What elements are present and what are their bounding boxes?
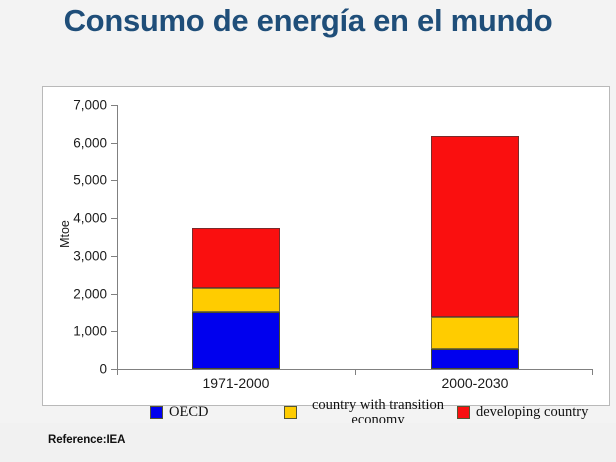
y-axis-tick <box>111 218 118 219</box>
y-tick-label: 2,000 <box>73 286 107 301</box>
bar-segment-oecd[interactable] <box>431 349 519 369</box>
y-axis-labels: 7,000 6,000 5,000 4,000 3,000 2,000 1,00… <box>43 87 109 407</box>
bar-segment-transition-economy[interactable] <box>192 288 280 313</box>
reference-note: Reference:IEA <box>48 434 125 446</box>
legend-item-developing-country[interactable]: developing country <box>457 405 588 419</box>
bar-segment-developing-country[interactable] <box>431 136 519 317</box>
y-tick-label: 6,000 <box>73 135 107 150</box>
legend-swatch-blue-icon <box>150 406 163 419</box>
x-axis-tick <box>592 369 593 375</box>
y-axis-tick <box>111 180 118 181</box>
x-axis-category-label: 2000-2030 <box>405 375 545 391</box>
y-tick-label: 3,000 <box>73 248 107 263</box>
legend-swatch-yellow-icon <box>284 406 297 419</box>
y-tick-label: 7,000 <box>73 98 107 113</box>
y-tick-label: 5,000 <box>73 173 107 188</box>
slide: Consumo de energía en el mundo Mtoe 7,00… <box>0 0 616 462</box>
y-tick-label: 4,000 <box>73 211 107 226</box>
y-axis-tick <box>111 105 118 106</box>
y-tick-label: 1,000 <box>73 324 107 339</box>
plot-area: Mtoe 7,000 6,000 5,000 4,000 3,000 2,000… <box>43 87 611 407</box>
y-axis-tick <box>111 294 118 295</box>
bar-segment-oecd[interactable] <box>192 312 280 369</box>
y-axis-line <box>117 105 118 369</box>
legend-item-oecd[interactable]: OECD <box>150 405 208 419</box>
chart-container: Mtoe 7,000 6,000 5,000 4,000 3,000 2,000… <box>42 86 610 406</box>
bar-segment-developing-country[interactable] <box>192 228 280 288</box>
y-tick-label: 0 <box>99 362 107 377</box>
legend-label: OECD <box>169 405 208 419</box>
page-title: Consumo de energía en el mundo <box>0 2 616 40</box>
legend-label: developing country <box>476 405 588 419</box>
x-axis-tick <box>117 369 118 375</box>
x-axis-tick <box>355 369 356 375</box>
legend-swatch-red-icon <box>457 406 470 419</box>
bar-segment-transition-economy[interactable] <box>431 317 519 349</box>
y-axis-tick <box>111 143 118 144</box>
y-axis-tick <box>111 331 118 332</box>
y-axis-tick <box>111 256 118 257</box>
x-axis-category-label: 1971-2000 <box>166 375 306 391</box>
